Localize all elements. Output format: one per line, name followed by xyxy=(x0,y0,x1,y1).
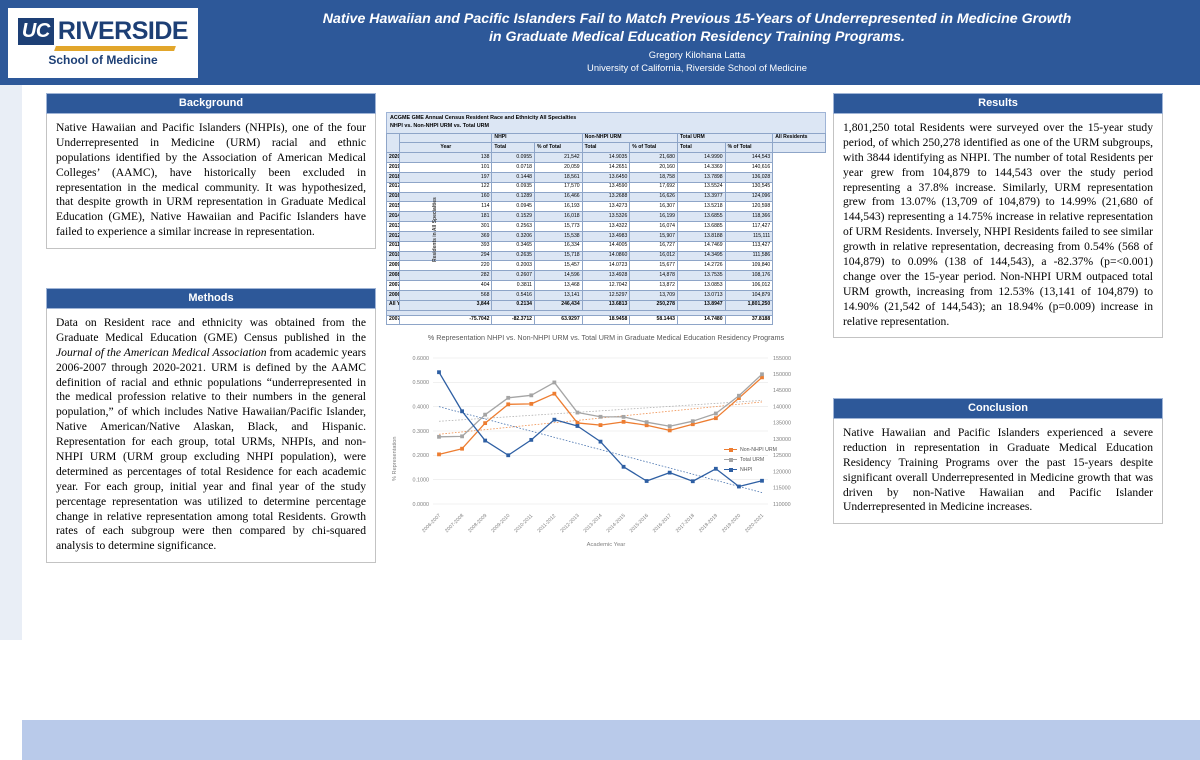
legend-swatch-icon xyxy=(724,449,737,450)
table-cell-value: 109,840 xyxy=(725,261,773,271)
results-section: Results 1,801,250 total Residents were s… xyxy=(833,93,1163,338)
census-table-title-line-2: NHPI vs. Non-NHPI URM vs. Total URM xyxy=(390,123,822,133)
results-text: 1,801,250 total Residents were surveyed … xyxy=(843,121,1153,329)
table-cell-value: 136,028 xyxy=(725,172,773,182)
table-cell-value: -75.7042 xyxy=(400,315,492,325)
chart-x-tick: 2006-2007 xyxy=(421,513,442,534)
table-cell-value: 0.2635 xyxy=(492,251,535,261)
table-cell-year: 2008-2009 xyxy=(387,271,400,281)
table-cell-value: 0.2134 xyxy=(492,300,535,310)
chart-data-point xyxy=(760,479,764,483)
table-cell-value: 13.0853 xyxy=(677,281,725,291)
chart-data-point xyxy=(529,438,533,442)
table-cell-value: 101 xyxy=(400,163,492,173)
chart-y2-tick: 140000 xyxy=(773,404,791,410)
table-cell-value: 0.3206 xyxy=(492,231,535,241)
table-cell-value: 16,466 xyxy=(535,192,583,202)
chart-series-line xyxy=(439,374,762,437)
col-header-totalurm-pct: % of Total xyxy=(725,143,773,153)
table-row: 2016-20171600.128916,46613.268816,62613.… xyxy=(387,192,826,202)
chart-x-tick: 2011-2012 xyxy=(536,513,557,534)
poster-body: Background Native Hawaiian and Pacific I… xyxy=(0,85,1200,640)
table-cell-value: 14.7480 xyxy=(677,315,725,325)
chart-data-point xyxy=(506,396,510,400)
col-header-nhpi-pct: % of Total xyxy=(535,143,583,153)
table-cell-year: 2020-2021 xyxy=(387,153,400,163)
table-cell-value: 114 xyxy=(400,202,492,212)
table-cell-value: 13.4322 xyxy=(582,222,630,232)
table-cell-value: 568 xyxy=(400,290,492,300)
chart-data-point xyxy=(552,392,556,396)
table-cell-value: 13.4983 xyxy=(582,231,630,241)
census-data-table: Residents in All Specialties NHPI Non-NH… xyxy=(386,133,826,326)
chart-data-point xyxy=(506,453,510,457)
table-cell-value: 0.2003 xyxy=(492,261,535,271)
chart-data-point xyxy=(714,467,718,471)
table-cell-year: All Years xyxy=(387,300,400,310)
legend-swatch-icon xyxy=(724,469,737,470)
table-cell-year: 2019-2020 xyxy=(387,163,400,173)
chart-data-point xyxy=(599,440,603,444)
poster-header: UC RIVERSIDE School of Medicine Native H… xyxy=(0,0,1200,85)
table-cell-value: 120,598 xyxy=(725,202,773,212)
table-cell-value: 13.6885 xyxy=(677,222,725,232)
table-cell-value: 138 xyxy=(400,153,492,163)
table-row: 2019-20201010.071820,05914.265120,16014.… xyxy=(387,163,826,173)
chart-data-point xyxy=(529,393,533,397)
table-row-pct-change: 2007 to 2021 % change-75.7042-82.371263.… xyxy=(387,315,826,325)
table-cell-value: 13,141 xyxy=(535,290,583,300)
chart-data-point xyxy=(576,410,580,414)
table-cell-value: 16,626 xyxy=(630,192,678,202)
table-cell-value: 13.5524 xyxy=(677,182,725,192)
table-cell-value: 14.9990 xyxy=(677,153,725,163)
school-of-medicine-label: School of Medicine xyxy=(48,53,157,67)
chart-data-point xyxy=(437,370,441,374)
chart-y-tick: 0.0000 xyxy=(413,502,430,508)
methods-text-part2: from academic years 2006-2007 through 20… xyxy=(56,346,366,553)
chart-y2-tick: 130000 xyxy=(773,437,791,443)
chart-legend: Non-NHPI URMTotal URMNHPI xyxy=(724,447,777,477)
table-cell-year: 2009-2010 xyxy=(387,261,400,271)
table-cell-year: 2013-2014 xyxy=(387,222,400,232)
table-cell-value: 13.2688 xyxy=(582,192,630,202)
table-cell-year: 2014-2015 xyxy=(387,212,400,222)
table-cell-value: 0.0718 xyxy=(492,163,535,173)
chart-data-point xyxy=(460,434,464,438)
table-cell-year: 2006-2007 xyxy=(387,290,400,300)
table-cell-value: 14.0723 xyxy=(582,261,630,271)
chart-data-point xyxy=(668,428,672,432)
table-cell-value: 369 xyxy=(400,231,492,241)
chart-title: % Representation NHPI vs. Non-NHPI URM v… xyxy=(386,328,826,346)
table-cell-value: 14.3495 xyxy=(677,251,725,261)
table-cell-value: 21,542 xyxy=(535,153,583,163)
table-cell-value: 18,758 xyxy=(630,172,678,182)
legend-item: Non-NHPI URM xyxy=(724,447,777,453)
table-cell-value: 13.5326 xyxy=(582,212,630,222)
left-column: Background Native Hawaiian and Pacific I… xyxy=(46,93,376,249)
table-cell-value: 197 xyxy=(400,172,492,182)
conclusion-section-body: Native Hawaiian and Pacific Islanders ex… xyxy=(833,419,1163,524)
chart-data-point xyxy=(552,380,556,384)
table-row: 2018-20191970.144818,56113.645018,75813.… xyxy=(387,172,826,182)
table-cell-value: 16,193 xyxy=(535,202,583,212)
chart-data-point xyxy=(483,438,487,442)
table-cell-value: 58.1443 xyxy=(630,315,678,325)
group-header-all-residents: All Residents xyxy=(773,133,826,143)
table-cell-value: 16,334 xyxy=(535,241,583,251)
table-cell-value: 15,457 xyxy=(535,261,583,271)
chart-x-tick: 2015-2016 xyxy=(629,513,650,534)
footer-band xyxy=(22,720,1200,760)
table-cell-value: 13.7898 xyxy=(677,172,725,182)
chart-data-point xyxy=(460,447,464,451)
table-cell-value: 15,538 xyxy=(535,231,583,241)
table-cell-value: 14,596 xyxy=(535,271,583,281)
chart-data-point xyxy=(691,419,695,423)
chart-x-tick: 2008-2009 xyxy=(467,513,488,534)
group-header-non-nhpi-urm: Non-NHPI URM xyxy=(582,133,677,143)
table-cell-value: 13.4273 xyxy=(582,202,630,212)
chart-data-point xyxy=(645,420,649,424)
group-header-nhpi: NHPI xyxy=(492,133,582,143)
table-cell-value: 18.9458 xyxy=(582,315,630,325)
conclusion-text: Native Hawaiian and Pacific Islanders ex… xyxy=(843,426,1153,515)
chart-x-tick: 2012-2013 xyxy=(559,513,580,534)
table-column-header-row: Year Total % of Total Total % of Total T… xyxy=(387,143,826,153)
table-cell-year: 2016-2017 xyxy=(387,192,400,202)
table-cell-value: 13.6450 xyxy=(582,172,630,182)
table-cell-value: 16,018 xyxy=(535,212,583,222)
table-row: 2009-20102200.200315,45714.072315,67714.… xyxy=(387,261,826,271)
table-cell-year: 2012-2013 xyxy=(387,231,400,241)
table-cell-year: 2007-2008 xyxy=(387,281,400,291)
legend-label: Non-NHPI URM xyxy=(740,447,777,453)
methods-text: Data on Resident race and ethnicity was … xyxy=(56,316,366,554)
table-cell-value: 12.5297 xyxy=(582,290,630,300)
census-table-body: 2020-20211380.095521,54214.903521,68014.… xyxy=(387,153,826,325)
riverside-wordmark: RIVERSIDE xyxy=(58,19,188,44)
census-table-title: ACGME GME Annual Census Resident Race an… xyxy=(386,112,826,133)
col-header-nonnhpi-pct: % of Total xyxy=(630,143,678,153)
table-cell-value: 118,366 xyxy=(725,212,773,222)
table-row: 2012-20133690.320615,53813.498315,90713.… xyxy=(387,231,826,241)
group-header-total-urm: Total URM xyxy=(677,133,772,143)
chart-y2-tick: 135000 xyxy=(773,420,791,426)
table-cell-value: 21,680 xyxy=(630,153,678,163)
methods-section-heading: Methods xyxy=(46,288,376,309)
table-cell-value: 181 xyxy=(400,212,492,222)
table-row: 2010-20112940.263515,71814.086016,01214.… xyxy=(387,251,826,261)
table-cell-value: 13.6813 xyxy=(582,300,630,310)
table-cell-value: 16,074 xyxy=(630,222,678,232)
legend-label: Total URM xyxy=(740,457,764,463)
table-cell-value: 160 xyxy=(400,192,492,202)
table-cell-value: 12.7042 xyxy=(582,281,630,291)
chart-data-point xyxy=(622,465,626,469)
col-header-year: Year xyxy=(400,143,492,153)
table-cell-value: 104,879 xyxy=(725,290,773,300)
table-cell-value: 13.6855 xyxy=(677,212,725,222)
table-cell-value: 20,160 xyxy=(630,163,678,173)
chart-data-point xyxy=(668,471,672,475)
background-text: Native Hawaiian and Pacific Islanders (N… xyxy=(56,121,366,240)
poster-title-line-2: in Graduate Medical Education Residency … xyxy=(208,28,1186,46)
background-section: Background Native Hawaiian and Pacific I… xyxy=(46,93,376,249)
table-cell-value: 15,677 xyxy=(630,261,678,271)
table-cell-value: 13.8947 xyxy=(677,300,725,310)
chart-data-point xyxy=(506,402,510,406)
chart-x-tick: 2007-2008 xyxy=(444,513,465,534)
table-cell-value: 13.4590 xyxy=(582,182,630,192)
table-cell-value: 13.7535 xyxy=(677,271,725,281)
table-cell-value: 18,561 xyxy=(535,172,583,182)
chart-x-tick: 2010-2011 xyxy=(513,513,534,534)
table-cell-value: 16,012 xyxy=(630,251,678,261)
table-cell-value: 13.8188 xyxy=(677,231,725,241)
table-cell-value: 17,692 xyxy=(630,182,678,192)
chart-y-tick: 0.4000 xyxy=(413,404,430,410)
table-cell-value: 17,570 xyxy=(535,182,583,192)
chart-data-point xyxy=(483,413,487,417)
chart-data-point xyxy=(737,484,741,488)
table-cell-value: 0.5416 xyxy=(492,290,535,300)
table-cell-value: 0.1529 xyxy=(492,212,535,222)
legend-swatch-icon xyxy=(724,459,737,460)
table-cell-value: 14.9035 xyxy=(582,153,630,163)
table-cell-value: 0.1289 xyxy=(492,192,535,202)
table-row-all-years: All Years3,8440.2134246,43413.6813250,27… xyxy=(387,300,826,310)
chart-data-point xyxy=(437,452,441,456)
table-row: 2011-20123930.346516,33414.400516,72714.… xyxy=(387,241,826,251)
col-header-all-residents-value xyxy=(773,143,826,153)
table-cell-value: 0.0945 xyxy=(492,202,535,212)
chart-y2-tick: 145000 xyxy=(773,388,791,394)
legend-item: NHPI xyxy=(724,467,777,473)
legend-item: Total URM xyxy=(724,457,777,463)
table-cell-value: 0.3465 xyxy=(492,241,535,251)
chart-data-point xyxy=(622,420,626,424)
chart-x-tick: 2017-2018 xyxy=(675,513,696,534)
table-cell-value: 14.2726 xyxy=(677,261,725,271)
table-cell-value: 15,773 xyxy=(535,222,583,232)
table-cell-value: 404 xyxy=(400,281,492,291)
census-table-block: ACGME GME Annual Census Resident Race an… xyxy=(386,112,826,325)
table-cell-value: 106,012 xyxy=(725,281,773,291)
chart-data-point xyxy=(691,479,695,483)
chart-data-point xyxy=(599,415,603,419)
author-affiliation: University of California, Riverside Scho… xyxy=(208,62,1186,75)
chart-data-point xyxy=(576,424,580,428)
table-cell-value: 16,199 xyxy=(630,212,678,222)
table-cell-value: 20,059 xyxy=(535,163,583,173)
table-cell-value: 117,427 xyxy=(725,222,773,232)
chart-data-point xyxy=(668,424,672,428)
chart-plot-area: % Representation Academic Year Non-NHPI … xyxy=(386,346,826,561)
table-cell-value: 0.0935 xyxy=(492,182,535,192)
table-row: 2013-20143010.256315,77313.432216,07413.… xyxy=(387,222,826,232)
table-cell-value: 13,872 xyxy=(630,281,678,291)
table-cell-value: 3,844 xyxy=(400,300,492,310)
table-cell-value: 0.2563 xyxy=(492,222,535,232)
results-section-body: 1,801,250 total Residents were surveyed … xyxy=(833,114,1163,338)
table-cell-value: 16,307 xyxy=(630,202,678,212)
chart-y2-tick: 115000 xyxy=(773,485,791,491)
table-row: 2020-20211380.095521,54214.903521,68014.… xyxy=(387,153,826,163)
chart-y2-tick: 150000 xyxy=(773,372,791,378)
table-cell-value: 393 xyxy=(400,241,492,251)
table-cell-value: 14.4005 xyxy=(582,241,630,251)
chart-x-tick: 2009-2010 xyxy=(490,513,511,534)
chart-data-point xyxy=(552,418,556,422)
chart-y-tick: 0.5000 xyxy=(413,380,430,386)
table-cell-value: 37.8188 xyxy=(725,315,773,325)
table-cell-value: 0.1448 xyxy=(492,172,535,182)
table-cell-value: 1,801,250 xyxy=(725,300,773,310)
title-block: Native Hawaiian and Pacific Islanders Fa… xyxy=(198,10,1200,75)
poster-title-line-1: Native Hawaiian and Pacific Islanders Fa… xyxy=(208,10,1186,28)
chart-x-tick: 2020-2021 xyxy=(744,513,765,534)
col-header-nhpi-total: Total xyxy=(492,143,535,153)
table-cell-value: 63.9297 xyxy=(535,315,583,325)
chart-x-axis-title: Academic Year xyxy=(386,542,826,548)
chart-y-axis-title: % Representation xyxy=(392,436,398,480)
table-cell-value: 13.5218 xyxy=(677,202,725,212)
chart-data-point xyxy=(529,402,533,406)
chart-y2-tick: 110000 xyxy=(773,502,791,508)
table-cell-value: 15,718 xyxy=(535,251,583,261)
table-cell-value: 294 xyxy=(400,251,492,261)
logo-wordmark-row: UC RIVERSIDE xyxy=(18,18,188,45)
table-cell-value: 130,545 xyxy=(725,182,773,192)
table-cell-value: 13.0713 xyxy=(677,290,725,300)
table-row: 2007-20084040.381113,46812.704213,87213.… xyxy=(387,281,826,291)
table-cell-value: 122 xyxy=(400,182,492,192)
table-cell-value: 140,616 xyxy=(725,163,773,173)
conclusion-section-heading: Conclusion xyxy=(833,398,1163,419)
table-row: 2008-20092820.260714,59613.492814,87813.… xyxy=(387,271,826,281)
table-row: 2017-20181220.093517,57013.459017,69213.… xyxy=(387,182,826,192)
table-cell-value: 124,096 xyxy=(725,192,773,202)
conclusion-section: Conclusion Native Hawaiian and Pacific I… xyxy=(833,398,1163,524)
table-cell-value: 250,278 xyxy=(630,300,678,310)
chart-y-tick: 0.2000 xyxy=(413,453,430,459)
table-cell-value: 301 xyxy=(400,222,492,232)
table-cell-value: 14.2651 xyxy=(582,163,630,173)
group-header-spacer xyxy=(400,133,492,143)
table-cell-value: 14,878 xyxy=(630,271,678,281)
table-cell-value: 14.7469 xyxy=(677,241,725,251)
table-cell-year: 2017-2018 xyxy=(387,182,400,192)
table-row: 2015-20161140.094516,19313.427316,30713.… xyxy=(387,202,826,212)
uc-riverside-som-logo: UC RIVERSIDE School of Medicine xyxy=(8,8,198,78)
table-cell-value: 0.3811 xyxy=(492,281,535,291)
author-name: Gregory Kilohana Latta xyxy=(208,49,1186,62)
chart-data-point xyxy=(599,423,603,427)
table-cell-year: 2018-2019 xyxy=(387,172,400,182)
methods-journal-name: Journal of the American Medical Associat… xyxy=(56,346,267,359)
methods-section: Methods Data on Resident race and ethnic… xyxy=(46,288,376,563)
chart-y-tick: 0.6000 xyxy=(413,356,430,362)
chart-y-tick: 0.3000 xyxy=(413,429,430,435)
table-group-header-row: Residents in All Specialties NHPI Non-NH… xyxy=(387,133,826,143)
table-cell-value: 220 xyxy=(400,261,492,271)
chart-x-tick: 2018-2019 xyxy=(698,513,719,534)
col-header-nonnhpi-total: Total xyxy=(582,143,630,153)
chart-data-point xyxy=(714,411,718,415)
table-cell-value: 13,709 xyxy=(630,290,678,300)
chart-x-tick: 2013-2014 xyxy=(583,513,604,534)
table-cell-value: 14.3369 xyxy=(677,163,725,173)
background-section-body: Native Hawaiian and Pacific Islanders (N… xyxy=(46,114,376,249)
table-cell-value: 15,907 xyxy=(630,231,678,241)
table-cell-value: 282 xyxy=(400,271,492,281)
chart-data-point xyxy=(645,479,649,483)
results-section-heading: Results xyxy=(833,93,1163,114)
table-cell-value: 108,176 xyxy=(725,271,773,281)
table-cell-value: 113,427 xyxy=(725,241,773,251)
table-cell-value: 13.3977 xyxy=(677,192,725,202)
chart-y-tick: 0.1000 xyxy=(413,477,430,483)
table-cell-year: 2011-2012 xyxy=(387,241,400,251)
chart-data-point xyxy=(737,394,741,398)
uc-logo-mark: UC xyxy=(18,18,54,45)
col-header-totalurm-total: Total xyxy=(677,143,725,153)
chart-data-point xyxy=(714,416,718,420)
table-cell-value: 246,434 xyxy=(535,300,583,310)
table-cell-value: 111,586 xyxy=(725,251,773,261)
background-section-heading: Background xyxy=(46,93,376,114)
table-cell-value: 16,727 xyxy=(630,241,678,251)
logo-gold-swoosh-icon xyxy=(54,46,176,51)
table-row: 2014-20151810.152916,01813.532616,19913.… xyxy=(387,212,826,222)
table-cell-value: 144,543 xyxy=(725,153,773,163)
table-cell-value: 13,468 xyxy=(535,281,583,291)
methods-text-part1: Data on Resident race and ethnicity was … xyxy=(56,316,366,344)
table-side-label-cell: Residents in All Specialties xyxy=(387,133,400,153)
legend-label: NHPI xyxy=(740,467,752,473)
table-row: 2006-20075680.541613,14112.529713,70913.… xyxy=(387,290,826,300)
table-cell-value: 14.0860 xyxy=(582,251,630,261)
representation-line-chart: % Representation NHPI vs. Non-NHPI URM v… xyxy=(386,328,826,578)
chart-data-point xyxy=(437,435,441,439)
table-cell-year: 2010-2011 xyxy=(387,251,400,261)
page-title: Native Hawaiian and Pacific Islanders Fa… xyxy=(208,10,1186,46)
chart-x-tick: 2014-2015 xyxy=(606,513,627,534)
census-table-title-line-1: ACGME GME Annual Census Resident Race an… xyxy=(390,115,822,123)
chart-data-point xyxy=(460,409,464,413)
chart-data-point xyxy=(483,421,487,425)
chart-x-tick: 2016-2017 xyxy=(652,513,673,534)
chart-x-tick: 2019-2020 xyxy=(721,513,742,534)
table-cell-year: 2007 to 2021 % change xyxy=(387,315,400,325)
chart-data-point xyxy=(622,415,626,419)
left-decorative-rail xyxy=(0,85,22,640)
methods-section-body: Data on Resident race and ethnicity was … xyxy=(46,309,376,563)
chart-y2-tick: 155000 xyxy=(773,356,791,362)
chart-data-point xyxy=(760,372,764,376)
table-cell-value: 0.2607 xyxy=(492,271,535,281)
table-cell-year: 2015-2016 xyxy=(387,202,400,212)
table-cell-value: 115,111 xyxy=(725,231,773,241)
table-cell-value: 13.4928 xyxy=(582,271,630,281)
table-cell-value: 0.0955 xyxy=(492,153,535,163)
table-cell-value: -82.3712 xyxy=(492,315,535,325)
